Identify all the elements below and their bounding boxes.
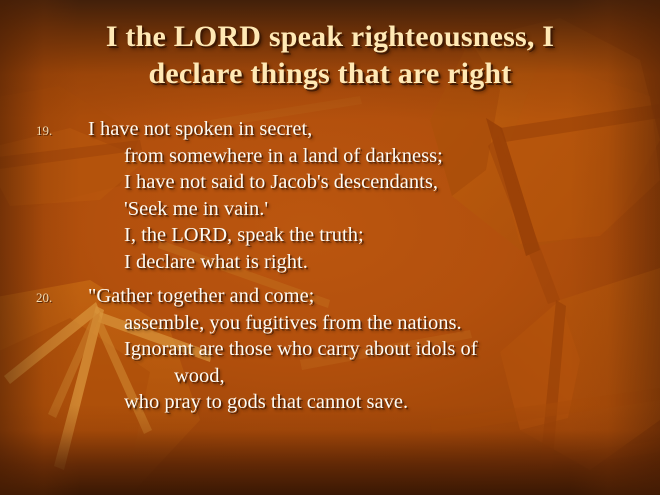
slide-title: I the LORD speak righteousness, I declar… [32,18,628,92]
verse-line: I declare what is right. [88,249,660,276]
scripture-body: 19. I have not spoken in secret, from so… [0,116,660,424]
slide-canvas: I the LORD speak righteousness, I declar… [0,0,660,495]
verse-line: Ignorant are those who carry about idols… [88,336,660,363]
verse-block-20: 20. "Gather together and come; assemble,… [0,283,660,416]
verse-line: wood, [88,363,660,390]
verse-line: I, the LORD, speak the truth; [88,222,660,249]
verse-line: from somewhere in a land of darkness; [88,143,660,170]
verse-line: who pray to gods that cannot save. [88,389,660,416]
slide-title-line-2: declare things that are right [32,55,628,92]
verse-line: I have not spoken in secret, [88,116,660,143]
verse-line: 'Seek me in vain.' [88,196,660,223]
verse-block-19: 19. I have not spoken in secret, from so… [0,116,660,275]
verse-line: "Gather together and come; [88,283,660,310]
verse-number-20: 20. [36,290,52,306]
verse-line: I have not said to Jacob's descendants, [88,169,660,196]
slide-title-line-1: I the LORD speak righteousness, I [32,18,628,55]
verse-number-19: 19. [36,123,52,139]
verse-line: assemble, you fugitives from the nations… [88,310,660,337]
